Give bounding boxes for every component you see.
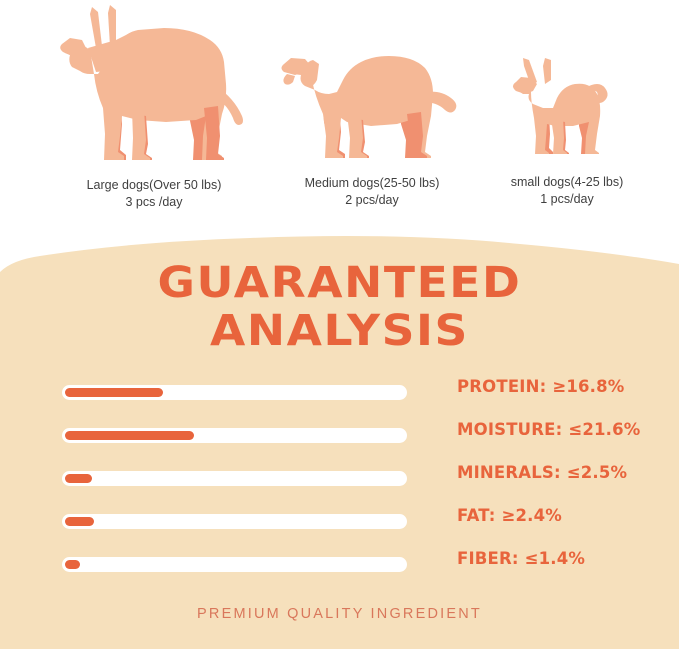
medium-dog-dose-label: 2 pcs/day: [272, 192, 472, 209]
feeding-column-large: Large dogs(Over 50 lbs) 3 pcs /day: [38, 4, 270, 211]
minerals-label: MINERALS: ≤2.5%: [457, 463, 627, 483]
small-dog-caption: small dogs(4-25 lbs) 1 pcs/day: [476, 174, 658, 208]
page-title: GUARANTEED ANALYSIS: [0, 262, 679, 354]
nutrient-row-moisture: MOISTURE: ≤21.6%: [0, 423, 679, 466]
small-dog-size-label: small dogs(4-25 lbs): [476, 174, 658, 191]
large-dog-size-label: Large dogs(Over 50 lbs): [38, 177, 270, 194]
fiber-label: FIBER: ≤1.4%: [457, 549, 585, 569]
nutrient-list: PROTEIN: ≥16.8% MOISTURE: ≤21.6% MINERAL…: [0, 380, 679, 595]
protein-label: PROTEIN: ≥16.8%: [457, 377, 625, 397]
fiber-bar-fill: [65, 560, 80, 569]
guaranteed-analysis-infographic: Large dogs(Over 50 lbs) 3 pcs /day: [0, 0, 679, 649]
large-dog-caption: Large dogs(Over 50 lbs) 3 pcs /day: [38, 177, 270, 211]
title-line-analysis: ANALYSIS: [0, 310, 679, 354]
fat-bar-fill: [65, 517, 94, 526]
nutrient-row-fiber: FIBER: ≤1.4%: [0, 552, 679, 595]
fiber-bar-track: [62, 557, 407, 572]
minerals-bar-fill: [65, 474, 92, 483]
moisture-bar-track: [62, 428, 407, 443]
fat-bar-track: [62, 514, 407, 529]
fat-label: FAT: ≥2.4%: [457, 506, 562, 526]
moisture-label: MOISTURE: ≤21.6%: [457, 420, 641, 440]
title-line-guaranteed: GUARANTEED: [0, 262, 679, 306]
nutrient-row-fat: FAT: ≥2.4%: [0, 509, 679, 552]
small-dog-silhouette-icon: [507, 58, 627, 162]
protein-bar-fill: [65, 388, 163, 397]
medium-dog-silhouette-icon: [279, 42, 465, 164]
minerals-bar-track: [62, 471, 407, 486]
protein-bar-track: [62, 385, 407, 400]
footer-tagline: PREMIUM QUALITY INGREDIENT: [0, 606, 679, 622]
panel-content: GUARANTEED ANALYSIS PROTEIN: ≥16.8% MOIS…: [0, 232, 679, 649]
guaranteed-analysis-panel: GUARANTEED ANALYSIS PROTEIN: ≥16.8% MOIS…: [0, 232, 679, 649]
nutrient-row-protein: PROTEIN: ≥16.8%: [0, 380, 679, 423]
medium-dog-size-label: Medium dogs(25-50 lbs): [272, 175, 472, 192]
medium-dog-caption: Medium dogs(25-50 lbs) 2 pcs/day: [272, 175, 472, 209]
feeding-guide-section: Large dogs(Over 50 lbs) 3 pcs /day: [0, 0, 679, 240]
large-dog-dose-label: 3 pcs /day: [38, 194, 270, 211]
small-dog-dose-label: 1 pcs/day: [476, 191, 658, 208]
feeding-column-small: small dogs(4-25 lbs) 1 pcs/day: [476, 58, 658, 208]
moisture-bar-fill: [65, 431, 194, 440]
nutrient-row-minerals: MINERALS: ≤2.5%: [0, 466, 679, 509]
large-dog-silhouette-icon: [46, 4, 262, 164]
feeding-column-medium: Medium dogs(25-50 lbs) 2 pcs/day: [272, 42, 472, 209]
